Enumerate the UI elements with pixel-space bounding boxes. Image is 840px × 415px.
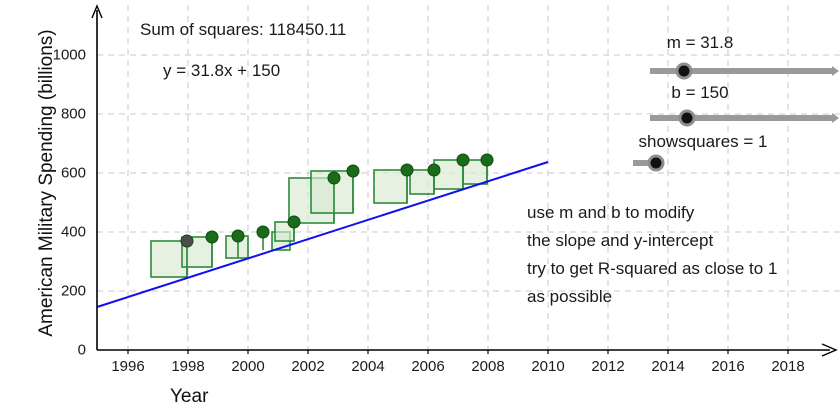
residual-squares bbox=[151, 160, 487, 277]
slider-knob-m[interactable] bbox=[676, 63, 693, 80]
data-point bbox=[257, 226, 269, 238]
slider-label-b: b = 150 bbox=[671, 83, 728, 103]
data-point bbox=[232, 230, 244, 242]
x-tick-label: 2004 bbox=[351, 358, 384, 375]
slider-knob-showsquares[interactable] bbox=[648, 155, 665, 172]
slider-arrow-b-icon bbox=[832, 113, 839, 123]
chart-canvas bbox=[0, 0, 840, 415]
slider-label-showsquares: showsquares = 1 bbox=[639, 132, 768, 152]
instruction-line-2: the slope and y-intercept bbox=[527, 231, 713, 251]
x-tick-label: 2012 bbox=[591, 358, 624, 375]
x-tick-label: 2018 bbox=[771, 358, 804, 375]
geogebra-applet: 1000 800 600 400 200 0 1996 1998 2000 20… bbox=[0, 0, 840, 415]
x-tick-label: 2016 bbox=[711, 358, 744, 375]
y-axis-title: American Military Spending (billions) bbox=[36, 18, 58, 348]
data-point-selected bbox=[181, 235, 193, 247]
x-tick-label: 2000 bbox=[231, 358, 264, 375]
x-tick-label: 2006 bbox=[411, 358, 444, 375]
data-point bbox=[328, 172, 340, 184]
instruction-line-3: try to get R-squared as close to 1 bbox=[527, 259, 777, 279]
x-tick-label: 1996 bbox=[111, 358, 144, 375]
x-tick-label: 2002 bbox=[291, 358, 324, 375]
data-point bbox=[401, 164, 413, 176]
x-tick-label: 1998 bbox=[171, 358, 204, 375]
data-point bbox=[288, 216, 300, 228]
sum-of-squares-label: Sum of squares: 118450.11 bbox=[140, 20, 346, 40]
data-point bbox=[428, 164, 440, 176]
x-tick-label: 2014 bbox=[651, 358, 684, 375]
data-point bbox=[347, 165, 359, 177]
instruction-line-4: as possible bbox=[527, 287, 612, 307]
data-point bbox=[457, 154, 469, 166]
instruction-line-1: use m and b to modify bbox=[527, 203, 694, 223]
data-point bbox=[481, 154, 493, 166]
data-point bbox=[206, 231, 218, 243]
x-axis-title: Year bbox=[170, 386, 208, 408]
slider-track-b[interactable] bbox=[650, 115, 832, 121]
equation-label: y = 31.8x + 150 bbox=[163, 61, 280, 81]
slider-arrow-m-icon bbox=[832, 66, 839, 76]
slider-knob-b[interactable] bbox=[679, 110, 696, 127]
slider-label-m: m = 31.8 bbox=[667, 33, 734, 53]
x-tick-label: 2008 bbox=[471, 358, 504, 375]
x-tick-label: 2010 bbox=[531, 358, 564, 375]
